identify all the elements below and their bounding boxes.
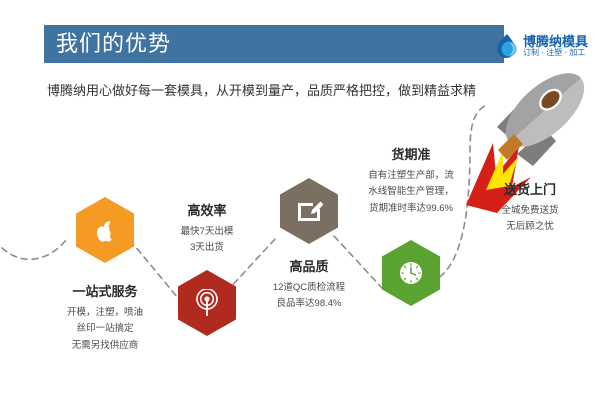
- droplet-logo-icon: [496, 32, 520, 60]
- apple-icon: [94, 218, 116, 242]
- clock-icon: [398, 260, 424, 286]
- node-desc-line: 开模，注塑，喷油: [30, 305, 180, 322]
- radar-signal-icon: [194, 289, 220, 317]
- edit-board-icon: [295, 198, 323, 224]
- node-title-1: 一站式服务: [30, 284, 180, 300]
- node-desc-line: 无后顾之忧: [455, 219, 600, 236]
- node-text-1: 一站式服务 开模，注塑，喷油 丝印一站搞定 无需另找供应商: [30, 284, 180, 354]
- logo-tagline: 订制 · 注塑 · 加工: [523, 49, 588, 57]
- hexagon-node-2[interactable]: [178, 270, 236, 336]
- rocket-fin-lower: [517, 129, 556, 166]
- logo-company-name: 博腾纳模具: [523, 35, 588, 49]
- node-desc-line: 丝印一站搞定: [30, 321, 180, 338]
- rocket-fin-upper: [497, 104, 535, 140]
- node-desc-line: 12道QC质检流程: [234, 280, 384, 297]
- page-subtitle: 博腾纳用心做好每一套模具，从开模到量产，品质严格把控，做到精益求精: [47, 80, 476, 99]
- hexagon-node-1[interactable]: [76, 197, 134, 263]
- node-desc-line: 全城免费送货: [455, 203, 600, 220]
- node-text-2: 高效率 最快7天出模 3天出货: [132, 203, 282, 257]
- node-title-5: 送货上门: [455, 182, 600, 198]
- page-title: 我们的优势: [44, 33, 171, 55]
- node-desc-5: 全城免费送货 无后顾之忧: [455, 203, 600, 236]
- node-title-2: 高效率: [132, 203, 282, 219]
- rocket-body: [493, 60, 596, 160]
- rocket-nozzle-band: [498, 134, 523, 160]
- node-desc-1: 开模，注塑，喷油 丝印一站搞定 无需另找供应商: [30, 305, 180, 355]
- node-title-4: 货期准: [336, 147, 486, 163]
- node-desc-line: 最快7天出模: [132, 224, 282, 241]
- brand-logo: 博腾纳模具 订制 · 注塑 · 加工: [496, 28, 596, 64]
- rocket-window: [538, 88, 563, 112]
- rocket-body-shade: [493, 60, 580, 142]
- node-text-3: 高品质 12道QC质检流程 良品率达98.4%: [234, 259, 384, 313]
- hexagon-node-4[interactable]: [382, 240, 440, 306]
- node-desc-line: 3天出货: [132, 240, 282, 257]
- node-desc-line: 无需另找供应商: [30, 338, 180, 355]
- header-bar: 我们的优势: [44, 25, 504, 63]
- rocket-window-rim: [535, 84, 566, 115]
- node-desc-3: 12道QC质检流程 良品率达98.4%: [234, 280, 384, 313]
- node-desc-2: 最快7天出模 3天出货: [132, 224, 282, 257]
- node-desc-line: 良品率达98.4%: [234, 296, 384, 313]
- hexagon-node-3[interactable]: [280, 178, 338, 244]
- node-title-3: 高品质: [234, 259, 384, 275]
- node-text-5: 送货上门 全城免费送货 无后顾之忧: [455, 182, 600, 236]
